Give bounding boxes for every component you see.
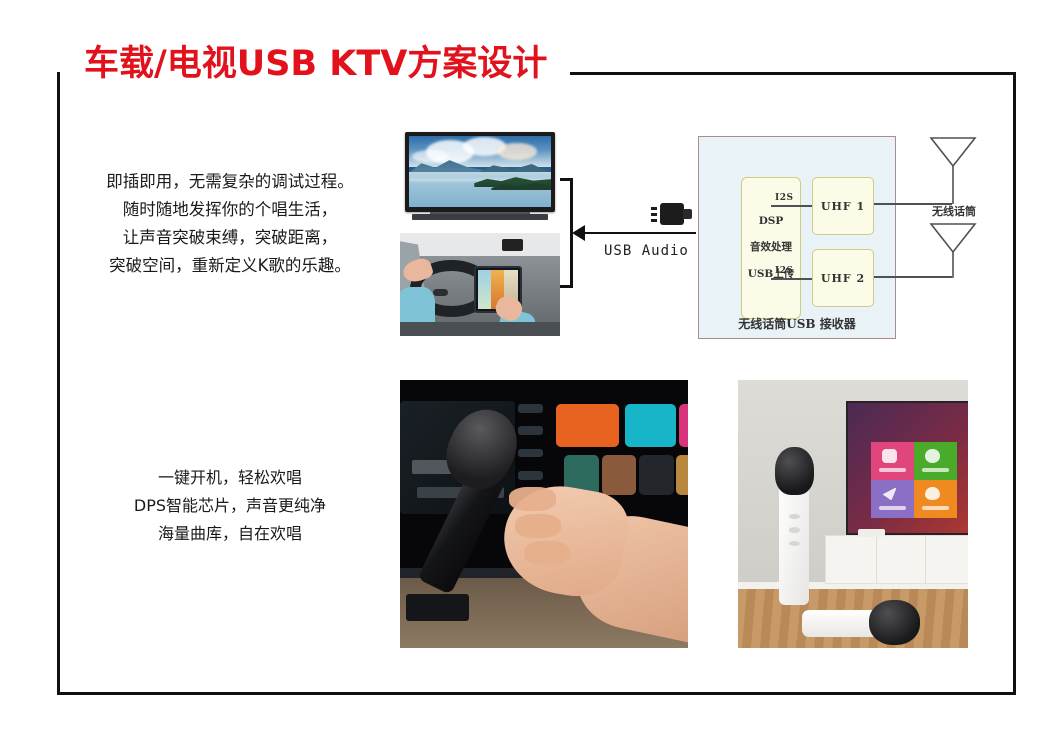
feature-line-2: DPS智能芯片，声音更纯净 — [75, 492, 385, 520]
intro-paragraph: 即插即用，无需复杂的调试过程。 随时随地发挥你的个唱生活， 让声音突破束缚，突破… — [75, 168, 385, 280]
frame-left-line — [57, 72, 60, 695]
app-tile — [602, 455, 637, 495]
uhf1-block: UHF 1 — [812, 177, 874, 235]
slide-canvas: 车载/电视USB KTV方案设计 即插即用，无需复杂的调试过程。 随时随地发挥你… — [0, 0, 1061, 749]
tv-screen — [409, 136, 551, 207]
bracket-bottom-tick — [560, 285, 572, 288]
cabinet-item — [858, 529, 886, 537]
intro-line-2: 随时随地发挥你的个唱生活， — [75, 196, 385, 224]
microphone-foam-head — [775, 447, 814, 495]
feature-line-1: 一键开机，轻松欢唱 — [75, 464, 385, 492]
usb-audio-label: USB Audio — [604, 243, 689, 259]
air-vent — [406, 594, 469, 621]
app-tile — [679, 404, 688, 447]
dsp-label-2: 音效处理 — [750, 239, 792, 254]
intro-line-3: 让声音突破束缚，突破距离， — [75, 224, 385, 252]
wireless-mic-label: 无线话筒 — [932, 203, 976, 219]
app-icon — [882, 449, 897, 463]
wall-mounted-tv — [846, 401, 968, 535]
intro-line-4: 突破空间，重新定义K歌的乐趣。 — [75, 252, 385, 280]
usb-pin — [651, 213, 657, 216]
uhf1-label: UHF 1 — [821, 200, 865, 213]
signal-arrow-line — [574, 232, 696, 234]
sidebar-item — [518, 426, 543, 435]
antenna-icon — [928, 134, 978, 211]
app-tile — [639, 455, 674, 495]
app-tile — [914, 480, 957, 518]
frame-right-line — [1013, 72, 1016, 695]
app-icon — [882, 487, 897, 501]
sidebar-item — [518, 404, 543, 413]
i2s-label-top: I2S — [775, 193, 793, 203]
cloud-shape — [497, 143, 537, 160]
car-interior-photo — [400, 233, 560, 336]
page-title: 车载/电视USB KTV方案设计 — [84, 42, 547, 86]
cabinet-divider — [876, 536, 877, 582]
feature-line-3: 海量曲库，自在欢唱 — [75, 520, 385, 548]
finger — [509, 487, 555, 511]
app-tile — [871, 442, 914, 480]
tv-cabinet — [825, 535, 968, 583]
tv-bezel — [405, 132, 555, 212]
i2s-label-bottom: I2S — [775, 266, 793, 276]
mic-in-car-photo — [400, 380, 688, 648]
antenna-icon-glyph — [928, 222, 978, 282]
app-icon — [925, 449, 940, 463]
app-label — [922, 506, 949, 510]
i2s-wire-top — [771, 205, 801, 207]
frame-bottom-line — [57, 692, 1016, 695]
tv-photo — [400, 128, 560, 226]
app-icon — [925, 487, 940, 501]
tv-app-tiles — [871, 442, 956, 517]
sidebar-item — [518, 449, 543, 458]
uhf2-label: UHF 2 — [821, 272, 865, 285]
usb-pin — [651, 207, 657, 210]
microphone-button — [789, 527, 801, 532]
i2s-wire-bottom — [771, 278, 812, 280]
car-roof — [400, 233, 560, 256]
dsp-label-1: DSP — [759, 215, 784, 227]
app-label — [922, 468, 949, 472]
intro-line-1: 即插即用，无需复杂的调试过程。 — [75, 168, 385, 196]
cloud-shape — [412, 150, 449, 163]
screen-tile — [478, 270, 491, 309]
i2s-wire-top-left — [801, 205, 812, 207]
app-label — [879, 468, 906, 472]
finger — [515, 514, 561, 538]
microphone-foam-head — [869, 600, 920, 646]
receiver-block-diagram: DSP 音效处理 USB上传 UHF 1 UHF 2 I2S I2S 无线话筒U… — [698, 136, 896, 339]
usb-plug-tip — [683, 209, 692, 219]
antenna-icon-glyph — [928, 134, 978, 206]
home-mic-photo — [738, 380, 968, 648]
usb-plug-body — [660, 203, 684, 225]
tv-foot — [412, 214, 548, 220]
uhf2-block: UHF 2 — [812, 249, 874, 307]
usb-pin — [651, 219, 657, 222]
app-tile — [556, 404, 619, 447]
car-lower-console — [400, 322, 560, 336]
usb-plug-icon — [648, 203, 692, 225]
diagram-caption: 无线话筒USB 接收器 — [699, 315, 895, 332]
antenna-icon — [928, 222, 978, 287]
features-paragraph: 一键开机，轻松欢唱 DPS智能芯片，声音更纯净 海量曲库，自在欢唱 — [75, 464, 385, 548]
dashcam-icon — [502, 239, 523, 250]
app-tile — [625, 404, 677, 447]
finger — [524, 541, 570, 565]
display-sidebar — [518, 404, 550, 490]
sidebar-item — [518, 471, 543, 480]
signal-arrow-head — [572, 225, 585, 241]
wheel-hub — [433, 289, 448, 297]
cabinet-divider — [925, 536, 926, 582]
frame-top-line — [570, 72, 1016, 75]
app-tile — [914, 442, 957, 480]
app-tile — [871, 480, 914, 518]
app-tile — [676, 455, 688, 495]
app-label — [879, 506, 906, 510]
